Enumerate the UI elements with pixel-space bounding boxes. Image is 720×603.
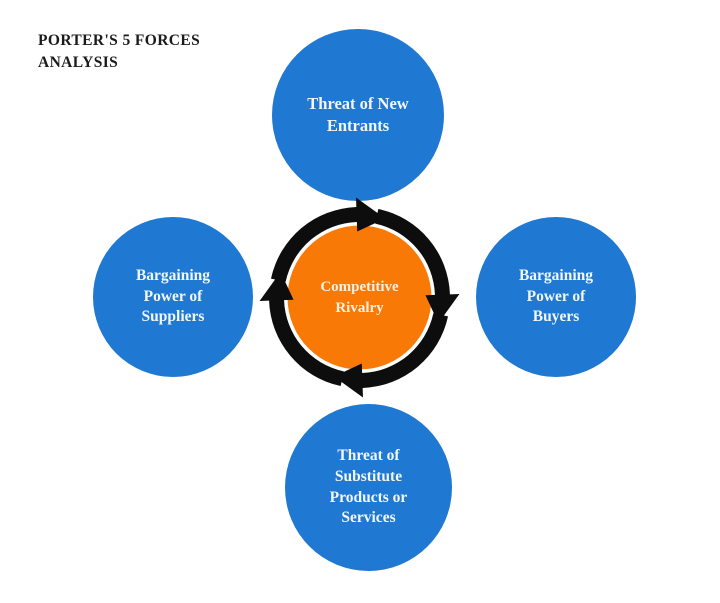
porters-five-forces-diagram: PORTER'S 5 FORCES ANALYSIS Threat of New… bbox=[0, 0, 720, 603]
cycle-arrows-svg bbox=[258, 196, 461, 399]
force-label-threat-of-new-entrants: Threat of New Entrants bbox=[299, 93, 416, 137]
force-circle-threat-of-substitute-products-or-services[interactable]: Threat of Substitute Products or Service… bbox=[285, 404, 452, 571]
force-label-bargaining-power-of-buyers: Bargaining Power of Buyers bbox=[511, 266, 601, 328]
diagram-title: PORTER'S 5 FORCES ANALYSIS bbox=[38, 30, 298, 75]
force-circle-threat-of-new-entrants[interactable]: Threat of New Entrants bbox=[272, 29, 444, 201]
force-circle-bargaining-power-of-suppliers[interactable]: Bargaining Power of Suppliers bbox=[93, 217, 253, 377]
force-circle-bargaining-power-of-buyers[interactable]: Bargaining Power of Buyers bbox=[476, 217, 636, 377]
competitive-rivalry-cycle[interactable]: Competitive Rivalry bbox=[258, 196, 461, 399]
center-circle-competitive-rivalry bbox=[288, 226, 432, 370]
force-label-bargaining-power-of-suppliers: Bargaining Power of Suppliers bbox=[128, 266, 218, 328]
force-label-threat-of-substitute-products-or-services: Threat of Substitute Products or Service… bbox=[322, 446, 416, 528]
